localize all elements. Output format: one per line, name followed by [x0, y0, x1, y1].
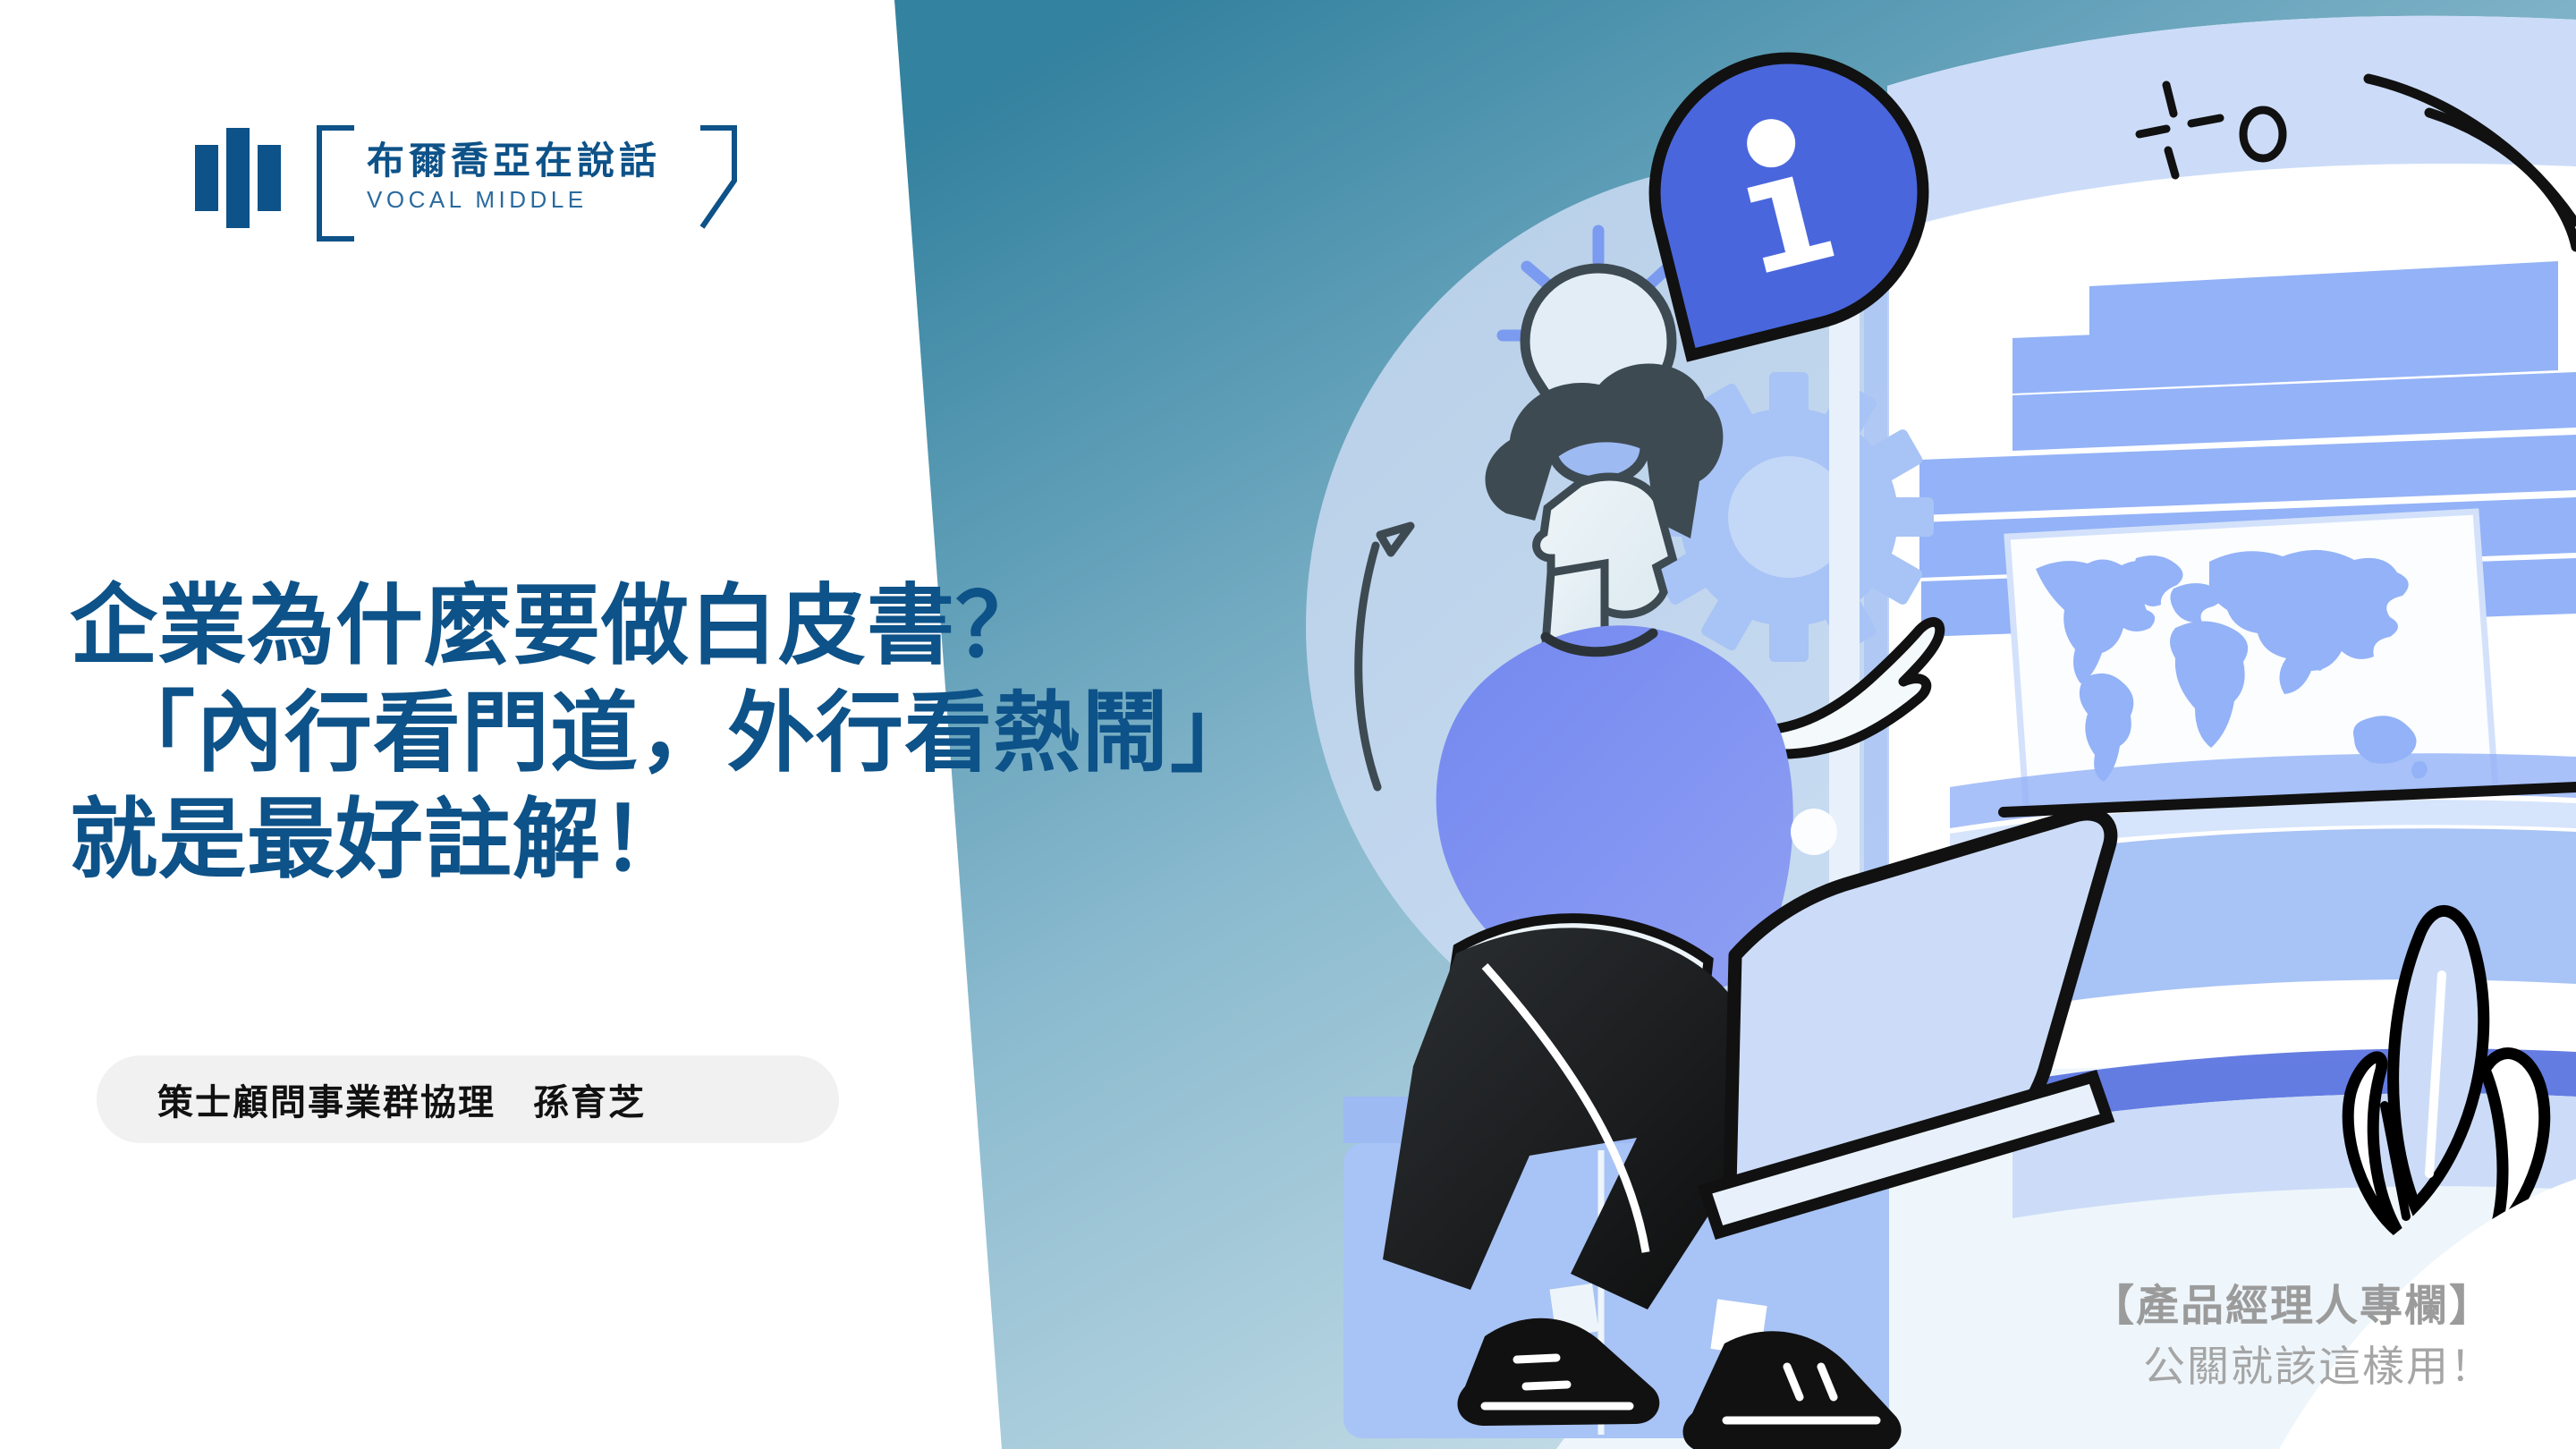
page-title: 企業為什麼要做白皮書？ 「內行看門道，外行看熱鬧」 就是最好註解！: [70, 572, 1608, 894]
brand-logo[interactable]: 布爾喬亞在說話 VOCAL MIDDLE: [195, 125, 711, 231]
headline-line-1: 企業為什麼要做白皮書？: [70, 572, 1608, 680]
column-mark-line-2: 公關就該這樣用！: [2091, 1337, 2494, 1397]
logo-bars-icon: [195, 128, 281, 228]
headline-line-3: 就是最好註解！: [70, 786, 1608, 894]
author-credit-text: 策士顧問事業群協理 孫育芝: [157, 1073, 646, 1125]
logo-bracket-right-icon: [695, 125, 727, 231]
column-mark-line-1: 【產品經理人專欄】: [2091, 1276, 2494, 1337]
logo-bracket-left-icon: [317, 125, 354, 241]
logo-bar-short-right: [258, 145, 281, 211]
logo-bar-short-left: [195, 145, 218, 211]
logo-name-en: VOCAL MIDDLE: [367, 185, 661, 215]
author-credit-badge: 策士顧問事業群協理 孫育芝: [97, 1055, 839, 1143]
logo-name-cn: 布爾喬亞在說話: [367, 142, 661, 182]
logo-lockup: 布爾喬亞在說話 VOCAL MIDDLE: [317, 125, 711, 231]
logo-bar-tall-center: [226, 128, 250, 228]
headline-line-2: 「內行看門道，外行看熱鬧」: [70, 680, 1608, 787]
column-mark: 【產品經理人專欄】 公關就該這樣用！: [2091, 1276, 2494, 1397]
poster-canvas: 布爾喬亞在說話 VOCAL MIDDLE 企業為什麼要做白皮書？ 「內行看門道，…: [0, 0, 2576, 1449]
laptop-logo-dot: [1791, 809, 1837, 855]
